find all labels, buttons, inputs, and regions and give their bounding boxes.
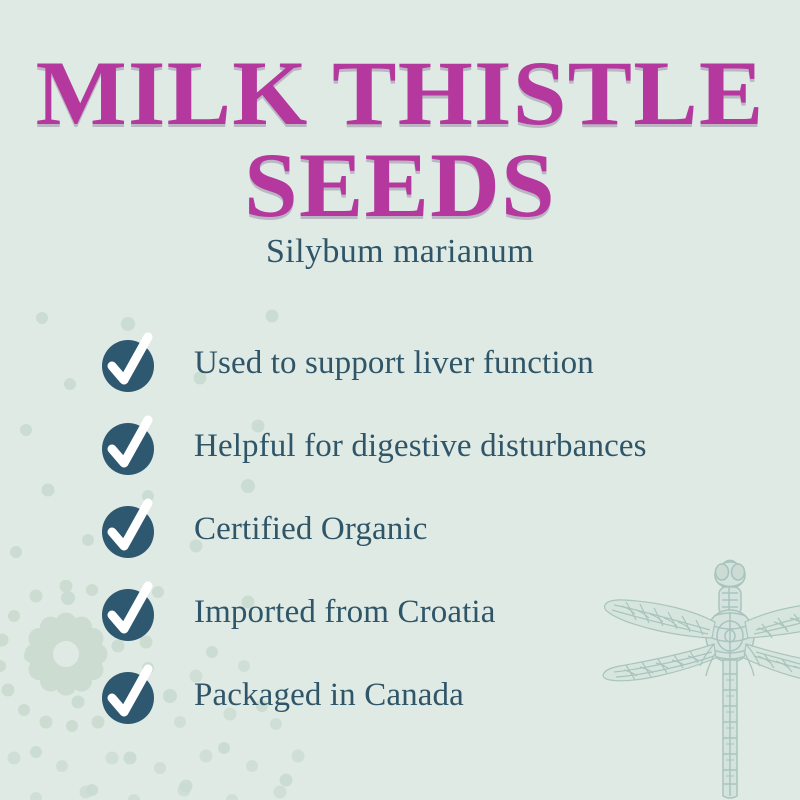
heading-block: MILK THISTLE MILK THISTLE SEEDS SEEDS: [0, 48, 800, 230]
list-item: Helpful for digestive disturbances: [100, 405, 800, 488]
list-item-label: Helpful for digestive disturbances: [194, 428, 647, 465]
page-title-line-2: SEEDS SEEDS: [0, 140, 800, 230]
title-line-1-text: MILK THISTLE: [36, 42, 765, 144]
check-circle-icon: [100, 502, 156, 558]
page-title-line-1: MILK THISTLE MILK THISTLE: [0, 48, 800, 138]
list-item-label: Certified Organic: [194, 511, 427, 548]
list-item: Used to support liver function: [100, 322, 800, 405]
list-item: Certified Organic: [100, 488, 800, 571]
list-item-label: Packaged in Canada: [194, 677, 464, 714]
check-circle-icon: [100, 668, 156, 724]
botanical-subtitle: Silybum marianum: [0, 233, 800, 271]
check-circle-icon: [100, 419, 156, 475]
list-item: Imported from Croatia: [100, 571, 800, 654]
benefit-list: Used to support liver function Helpful f…: [100, 322, 800, 737]
title-line-2-text: SEEDS: [244, 134, 556, 236]
poster-canvas: MILK THISTLE MILK THISTLE SEEDS SEEDS Si…: [0, 0, 800, 800]
list-item-label: Used to support liver function: [194, 345, 594, 382]
list-item-label: Imported from Croatia: [194, 594, 496, 631]
check-circle-icon: [100, 585, 156, 641]
list-item: Packaged in Canada: [100, 654, 800, 737]
check-circle-icon: [100, 336, 156, 392]
